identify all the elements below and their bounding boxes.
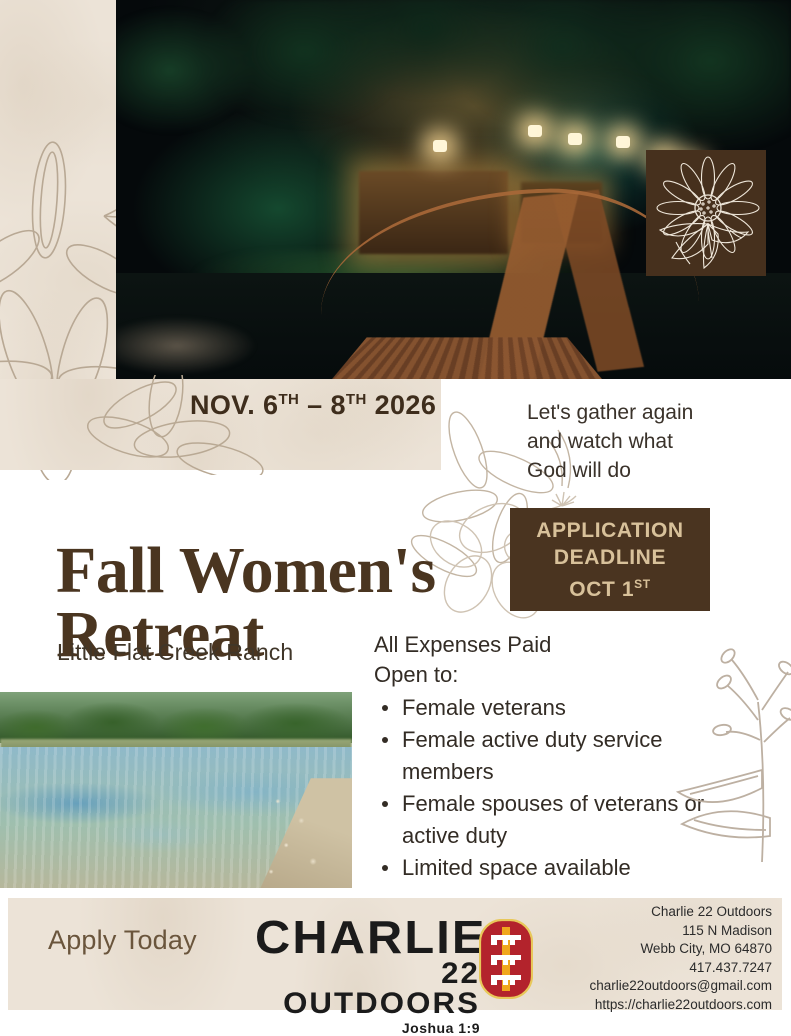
title-line-1: Fall Women's xyxy=(56,544,526,598)
logo-word-outdoors: 22 OUTDOORS xyxy=(246,959,480,1019)
contact-website[interactable]: https://charlie22outdoors.com xyxy=(520,996,772,1015)
lake-pebbles xyxy=(261,786,345,888)
deadline-line-3: OCT 1ST xyxy=(569,572,650,602)
date-sup-1: TH xyxy=(278,391,299,408)
deadline-line-1: APPLICATION xyxy=(536,518,683,543)
list-item: Limited space available xyxy=(374,852,734,884)
hero-lamp-light xyxy=(568,133,582,145)
logo-tagline-joshua: Joshua 1:9 xyxy=(255,1020,480,1036)
lake-photo xyxy=(0,692,352,888)
hero-lamp-light xyxy=(616,136,630,148)
date-dash: – 8 xyxy=(299,390,346,420)
open-to-label: Open to: xyxy=(374,660,734,690)
eligibility-list: Female veterans Female active duty servi… xyxy=(374,692,734,884)
charlie22-logo[interactable]: CHARLIE 22 OUTDOORS Joshua 1:9 xyxy=(255,917,480,1001)
contact-phone[interactable]: 417.437.7247 xyxy=(520,959,772,978)
lake-treeline xyxy=(0,692,352,743)
contact-city-state-zip: Webb City, MO 64870 xyxy=(520,940,772,959)
tagline-line-1: Let's gather again xyxy=(527,398,757,427)
all-expenses-paid: All Expenses Paid xyxy=(374,630,734,660)
hero-bridge-deck xyxy=(332,337,602,379)
list-item: Female active duty service members xyxy=(374,724,734,788)
date-month: NOV. 6 xyxy=(190,390,278,420)
flyer-page: NOV. 6TH – 8TH 2026 Let's gather again a… xyxy=(0,0,791,1024)
hero-lamp-light xyxy=(528,125,542,137)
date-year: 2026 xyxy=(367,390,437,420)
deadline-line-2: DEADLINE xyxy=(554,545,666,570)
logo-word-charlie: CHARLIE xyxy=(255,917,494,957)
date-sup-2: TH xyxy=(346,391,367,408)
hero-rocky-bank xyxy=(116,296,319,379)
list-item: Female spouses of veterans or active dut… xyxy=(374,788,734,852)
eligibility-block: All Expenses Paid Open to: Female vetera… xyxy=(374,630,734,884)
list-item: Female veterans xyxy=(374,692,734,724)
tagline-line-3: God will do xyxy=(527,456,757,485)
contact-org: Charlie 22 Outdoors xyxy=(520,903,772,922)
apply-today-cta[interactable]: Apply Today xyxy=(48,925,197,956)
event-date: NOV. 6TH – 8TH 2026 xyxy=(190,390,436,421)
sunflower-badge xyxy=(646,150,766,276)
contact-email[interactable]: charlie22outdoors@gmail.com xyxy=(520,977,772,996)
application-deadline-box: APPLICATION DEADLINE OCT 1ST xyxy=(510,508,710,611)
sunflower-icon xyxy=(646,150,766,276)
contact-block: Charlie 22 Outdoors 115 N Madison Webb C… xyxy=(520,903,772,1015)
deadline-date: OCT 1 xyxy=(569,578,634,601)
tagline-line-2: and watch what xyxy=(527,427,757,456)
venue-name: Little Flat Creek Ranch xyxy=(57,639,293,666)
hero-lamp-light xyxy=(433,140,447,152)
contact-street: 115 N Madison xyxy=(520,922,772,941)
deadline-date-sup: ST xyxy=(634,577,651,591)
tagline: Let's gather again and watch what God wi… xyxy=(527,398,757,485)
